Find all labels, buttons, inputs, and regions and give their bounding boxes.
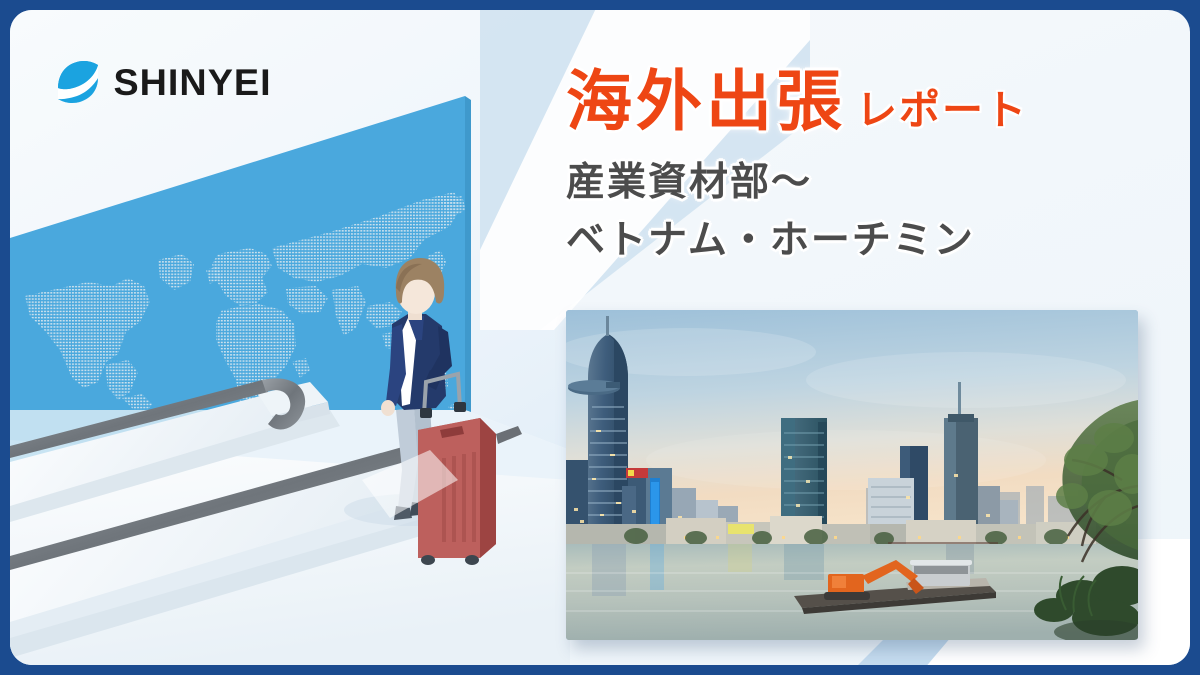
- page-title: 海外出張: [566, 68, 846, 135]
- banner-card: SHINYEI 海外出張 レポート 産業資材部〜 ベトナム・ホーチミン: [10, 10, 1190, 665]
- page-title-kana: レポート: [856, 76, 1028, 136]
- airport-illustration: [10, 10, 570, 665]
- shinyei-logo[interactable]: SHINYEI: [55, 58, 270, 106]
- shinyei-wordmark: SHINYEI: [113, 64, 271, 101]
- subtitle-line-1: 産業資材部〜: [566, 154, 1176, 212]
- ho-chi-minh-city-skyline-photo: [566, 310, 1138, 640]
- subtitle-block: 産業資材部〜 ベトナム・ホーチミン: [566, 154, 1176, 269]
- title-line: 海外出張 レポート: [566, 68, 1176, 136]
- title-block: 海外出張 レポート 産業資材部〜 ベトナム・ホーチミン: [566, 68, 1176, 269]
- banner-root: SHINYEI 海外出張 レポート 産業資材部〜 ベトナム・ホーチミン: [0, 0, 1200, 675]
- subtitle-line-2: ベトナム・ホーチミン: [566, 212, 1176, 270]
- shinyei-wave-mark: [55, 58, 101, 106]
